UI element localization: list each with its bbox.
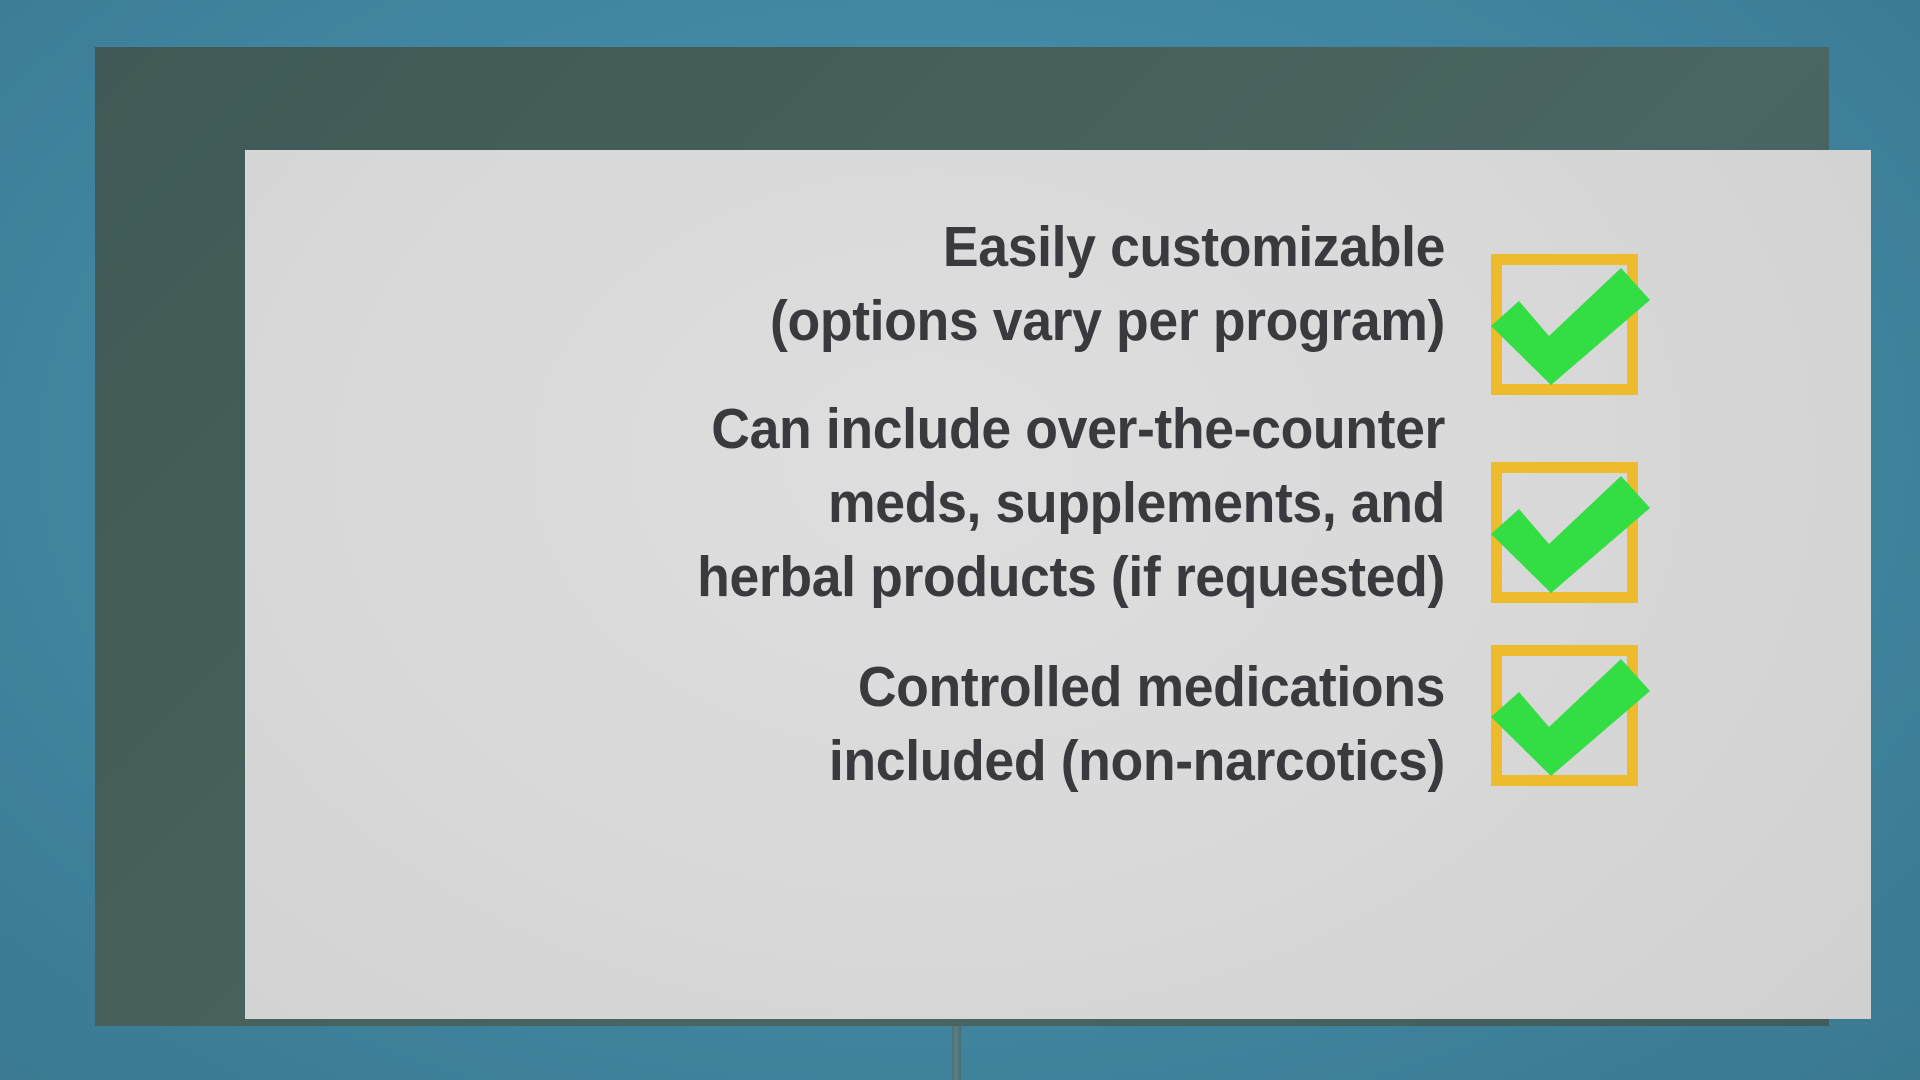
check-icon <box>1473 651 1658 782</box>
check-icon <box>1473 468 1658 599</box>
bullet-text: Controlled medications included (non-nar… <box>336 650 1445 798</box>
bullet-text: Can include over-the-counter meds, suppl… <box>336 392 1445 614</box>
bullet-text: Easily customizable (options vary per pr… <box>336 210 1445 358</box>
slide-content-panel: Easily customizable (options vary per pr… <box>245 150 1871 1019</box>
checkbox-icon <box>1491 254 1638 395</box>
checkbox-icon <box>1491 462 1638 603</box>
slide-frame: Easily customizable (options vary per pr… <box>95 47 1829 1026</box>
check-icon <box>1473 260 1658 391</box>
checkbox-icon <box>1491 645 1638 786</box>
slide-canvas: Easily customizable (options vary per pr… <box>0 0 1920 1080</box>
monitor-stand <box>952 1018 961 1080</box>
